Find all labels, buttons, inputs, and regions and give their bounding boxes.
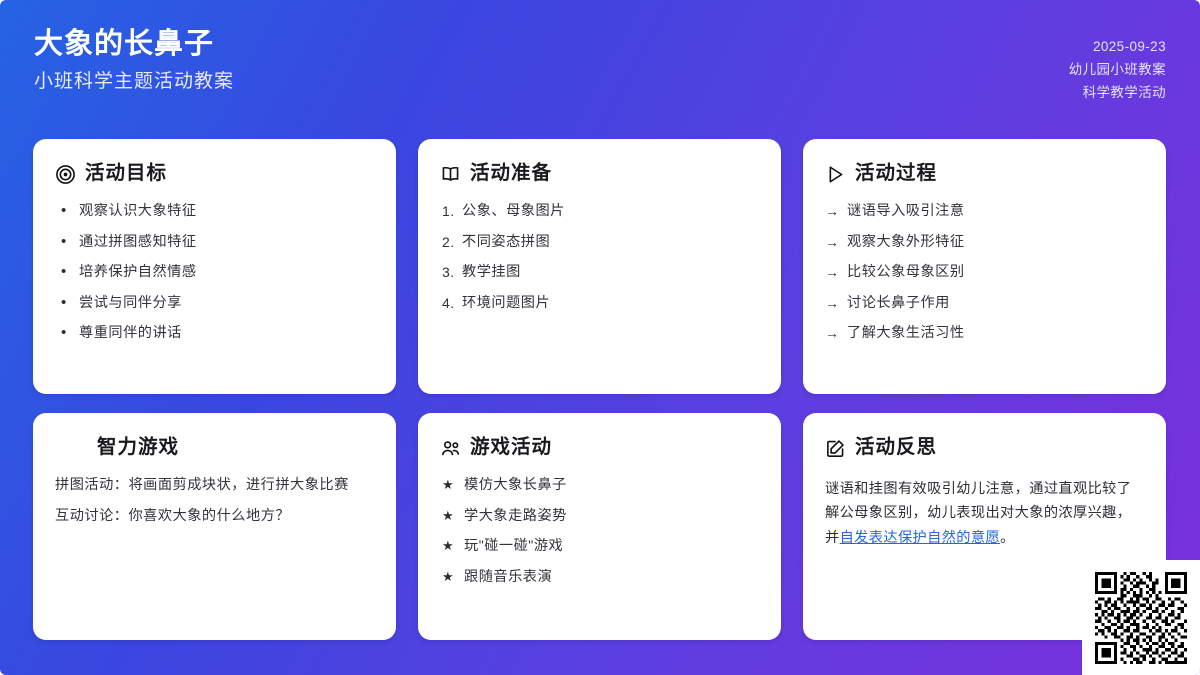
card-title: 活动过程: [855, 164, 937, 184]
card-header: 活动反思: [825, 435, 1144, 461]
target-icon: [55, 164, 76, 185]
card-intellect-game: 智力游戏 拼图活动：将画面剪成块状，进行拼大象比赛 互动讨论：你喜欢大象的什么地…: [33, 413, 396, 640]
page-title: 大象的长鼻子: [34, 26, 234, 62]
card-title: 游戏活动: [470, 438, 552, 458]
list-item: 比较公象母象区别: [825, 264, 1144, 281]
edit-icon: [825, 438, 846, 459]
reflection-text-post: 。: [1000, 530, 1015, 546]
list-item: 尝试与同伴分享: [55, 295, 374, 312]
process-list: 谜语导入吸引注意 观察大象外形特征 比较公象母象区别 讨论长鼻子作用 了解大象生…: [825, 203, 1144, 342]
card-game-activity: 游戏活动 模仿大象长鼻子 学大象走路姿势 玩"碰一碰"游戏 跟随音乐表演: [418, 413, 781, 640]
list-item: 通过拼图感知特征: [55, 234, 374, 251]
list-item: 谜语导入吸引注意: [825, 203, 1144, 220]
list-item: 拼图活动：将画面剪成块状，进行拼大象比赛: [55, 477, 374, 494]
card-objectives: 活动目标 观察认识大象特征 通过拼图感知特征 培养保护自然情感 尝试与同伴分享 …: [33, 139, 396, 394]
game-activity-list: 模仿大象长鼻子 学大象走路姿势 玩"碰一碰"游戏 跟随音乐表演: [440, 477, 759, 586]
list-item: 讨论长鼻子作用: [825, 295, 1144, 312]
header-meta-line-2: 科学教学活动: [1069, 81, 1166, 104]
card-title: 活动反思: [855, 438, 937, 458]
list-item: 不同姿态拼图: [440, 234, 759, 251]
qr-code[interactable]: [1095, 572, 1187, 664]
card-header: 智力游戏: [55, 435, 374, 461]
list-item: 公象、母象图片: [440, 203, 759, 220]
card-process: 活动过程 谜语导入吸引注意 观察大象外形特征 比较公象母象区别 讨论长鼻子作用 …: [803, 139, 1166, 394]
list-item: 学大象走路姿势: [440, 508, 759, 525]
card-header: 活动目标: [55, 161, 374, 187]
list-item: 环境问题图片: [440, 295, 759, 312]
list-item: 观察认识大象特征: [55, 203, 374, 220]
people-icon: [440, 438, 461, 459]
reflection-paragraph: 谜语和挂图有效吸引幼儿注意，通过直观比较了解公母象区别，幼儿表现出对大象的浓厚兴…: [825, 477, 1144, 550]
card-header: 游戏活动: [440, 435, 759, 461]
book-icon: [440, 164, 461, 185]
reflection-link[interactable]: 自发表达保护自然的意愿: [840, 530, 1000, 546]
header-meta-line-1: 幼儿园小班教案: [1069, 58, 1166, 81]
list-item: 互动讨论：你喜欢大象的什么地方？: [55, 508, 374, 525]
header-left-block: 大象的长鼻子 小班科学主题活动教案: [34, 26, 234, 94]
preparation-list: 公象、母象图片 不同姿态拼图 教学挂图 环境问题图片: [440, 203, 759, 312]
list-item: 尊重同伴的讲话: [55, 325, 374, 342]
play-icon: [825, 164, 846, 185]
card-header: 活动过程: [825, 161, 1144, 187]
page-subtitle: 小班科学主题活动教案: [34, 71, 234, 94]
list-item: 教学挂图: [440, 264, 759, 281]
objectives-list: 观察认识大象特征 通过拼图感知特征 培养保护自然情感 尝试与同伴分享 尊重同伴的…: [55, 203, 374, 342]
list-item: 观察大象外形特征: [825, 234, 1144, 251]
card-title: 智力游戏: [97, 438, 179, 458]
list-item: 模仿大象长鼻子: [440, 477, 759, 494]
card-title: 活动目标: [85, 164, 167, 184]
header-date: 2025-09-23: [1069, 35, 1166, 58]
list-item: 培养保护自然情感: [55, 264, 374, 281]
list-item: 玩"碰一碰"游戏: [440, 538, 759, 555]
list-item: 跟随音乐表演: [440, 569, 759, 586]
header-meta-block: 2025-09-23 幼儿园小班教案 科学教学活动: [1069, 35, 1166, 105]
card-title: 活动准备: [470, 164, 552, 184]
qr-code-panel: [1082, 560, 1200, 675]
card-preparation: 活动准备 公象、母象图片 不同姿态拼图 教学挂图 环境问题图片: [418, 139, 781, 394]
list-item: 了解大象生活习性: [825, 325, 1144, 342]
poster-root: 大象的长鼻子 小班科学主题活动教案 2025-09-23 幼儿园小班教案 科学教…: [0, 0, 1200, 675]
poster-header: 大象的长鼻子 小班科学主题活动教案 2025-09-23 幼儿园小班教案 科学教…: [0, 0, 1200, 128]
card-header: 活动准备: [440, 161, 759, 187]
card-grid: 活动目标 观察认识大象特征 通过拼图感知特征 培养保护自然情感 尝试与同伴分享 …: [33, 139, 1173, 640]
